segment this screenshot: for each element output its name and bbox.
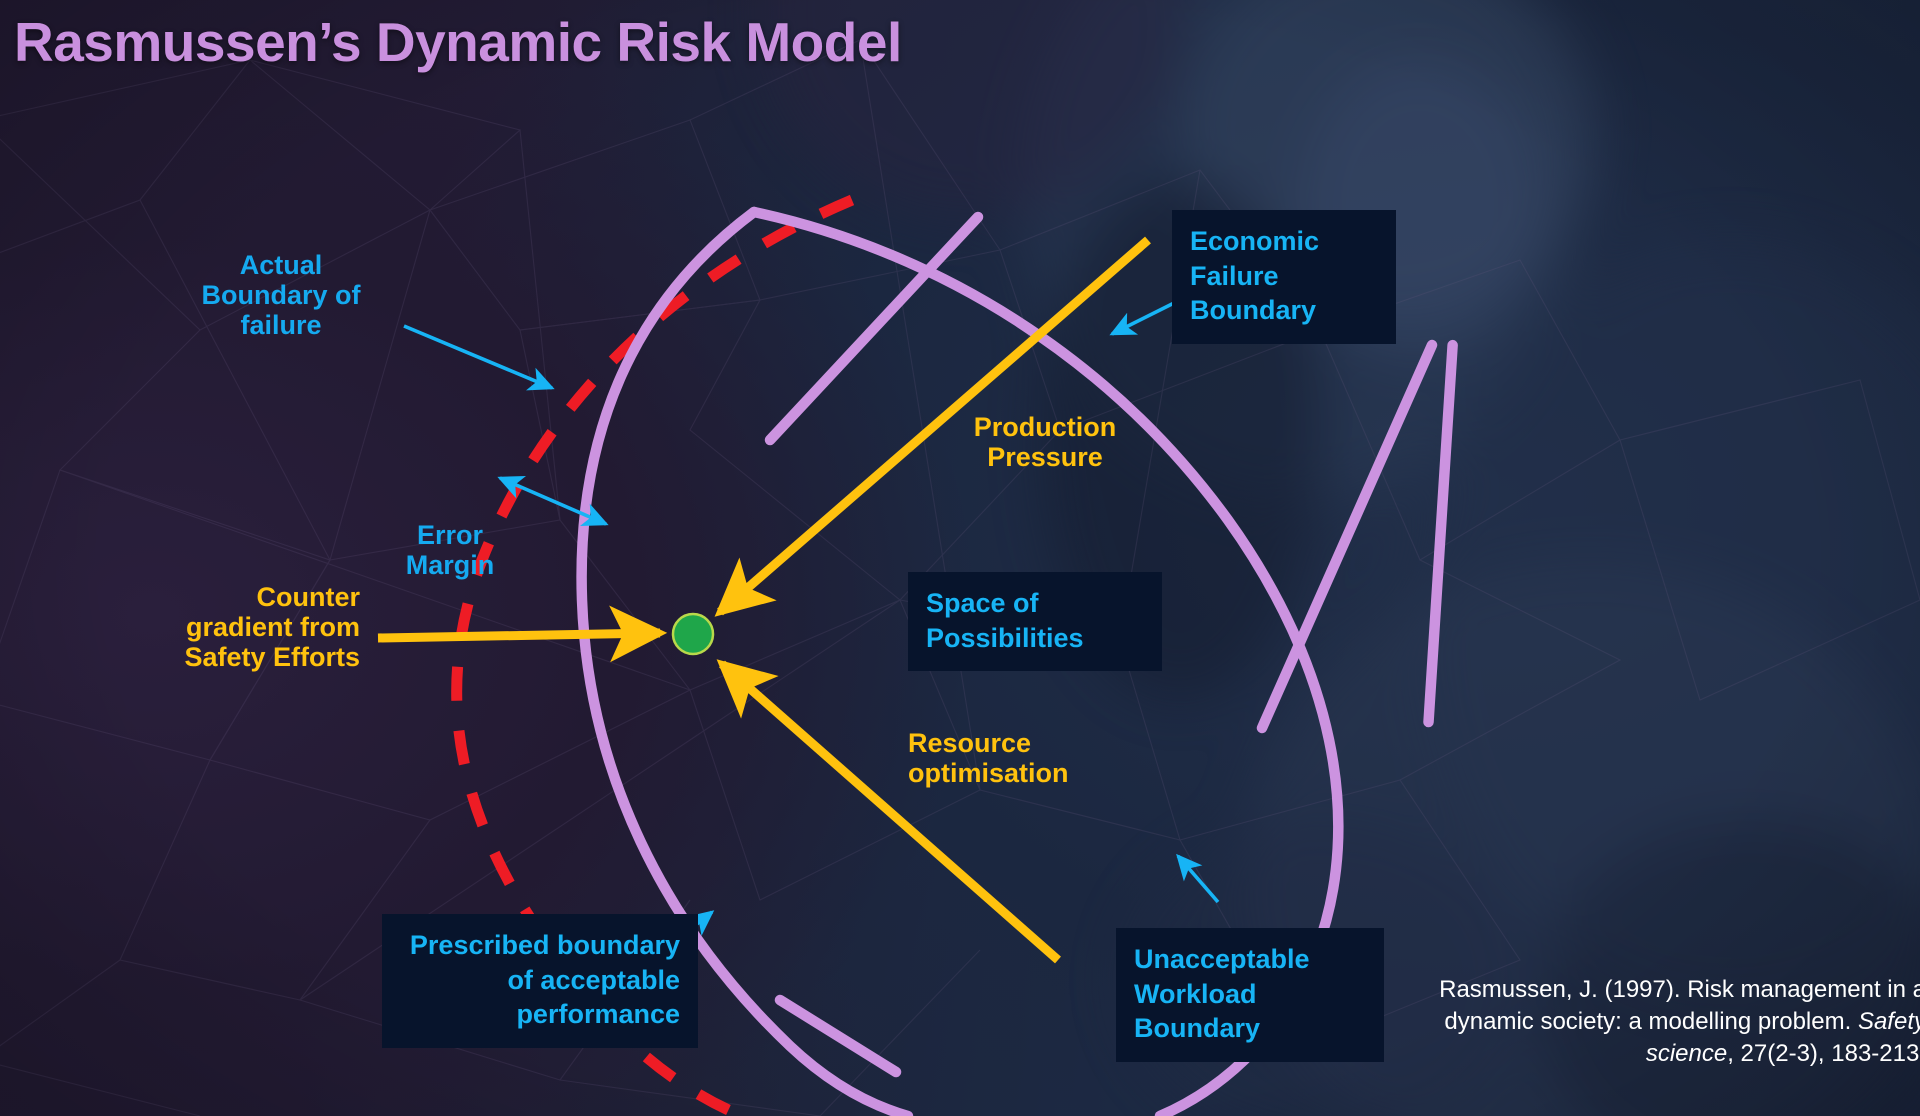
label-counter-gradient: Counter gradient from Safety Efforts (150, 582, 360, 673)
chip-space-of-possibilities: Space of Possibilities (908, 572, 1162, 671)
slide-canvas: Rasmussen’s Dynamic Risk Model Actual Bo… (0, 0, 1920, 1116)
label-production-pressure: Production Pressure (960, 412, 1130, 472)
citation-line-2: dynamic society: a modelling problem. (1444, 1008, 1858, 1035)
citation-journal: Safety (1858, 1008, 1920, 1035)
risk-model-diagram (0, 0, 1920, 1116)
cyan-arrow-unacceptable-workload (1178, 856, 1218, 902)
amber-arrow-resource-optimisation (722, 664, 1058, 960)
chip-unacceptable-workload-boundary: Unacceptable Workload Boundary (1116, 928, 1384, 1062)
citation: Rasmussen, J. (1997). Risk management in… (1406, 974, 1920, 1070)
chip-economic-failure-boundary: Economic Failure Boundary (1172, 210, 1396, 344)
citation-line-1: Rasmussen, J. (1997). Risk management in… (1439, 976, 1920, 1003)
amber-arrow-counter-gradient (378, 633, 660, 638)
purple-line-lower (780, 1000, 896, 1072)
label-actual-boundary-of-failure: Actual Boundary of failure (176, 250, 386, 341)
page-title: Rasmussen’s Dynamic Risk Model (14, 12, 902, 74)
cyan-arrow-actual-boundary (404, 326, 552, 388)
cyan-arrow-economic-boundary (1112, 300, 1180, 334)
label-error-margin: Error Margin (380, 520, 520, 580)
citation-journal-cont: science (1646, 1040, 1727, 1067)
label-resource-optimisation: Resource optimisation (908, 728, 1118, 788)
green-dot-icon (673, 614, 713, 654)
citation-line-3: , 27(2-3), 183-213. (1727, 1040, 1920, 1067)
chip-prescribed-boundary: Prescribed boundary of acceptable perfor… (382, 914, 698, 1048)
